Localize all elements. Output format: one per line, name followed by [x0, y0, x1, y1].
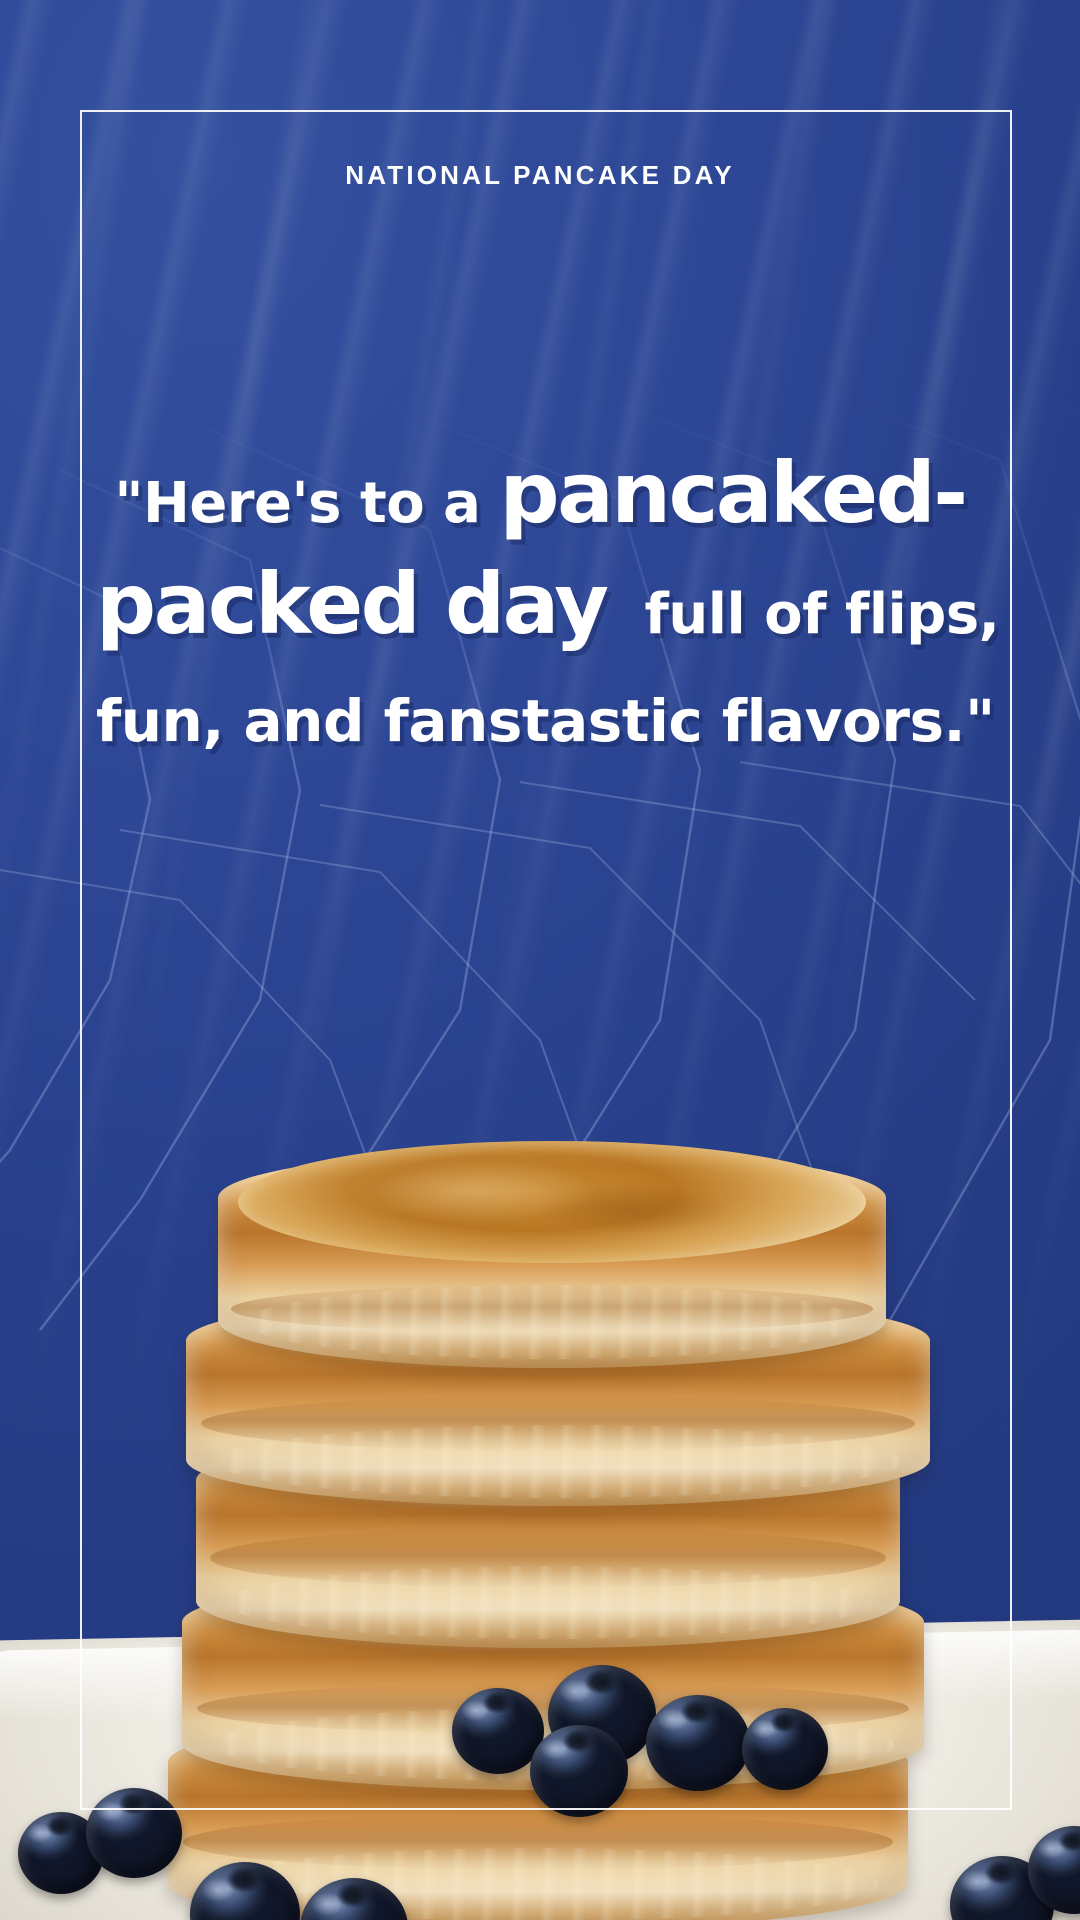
- quote-line-1: "Here's to a pancaked-: [96, 450, 984, 537]
- pancake-crumb-texture: [224, 1566, 872, 1639]
- blueberry-crown: [584, 1669, 621, 1695]
- poster-canvas: NATIONAL PANCAKE DAY "Here's to a pancak…: [0, 0, 1080, 1920]
- blueberry-top-3: [646, 1695, 750, 1791]
- quote-block: "Here's to a pancaked- packed day full o…: [96, 450, 984, 751]
- blueberry-crown: [118, 1792, 151, 1815]
- quote-line-3-part-1: fun, and fanstastic flavors.": [96, 687, 995, 755]
- blueberry-plate-2: [86, 1788, 182, 1878]
- blueberry-crown: [46, 1815, 75, 1836]
- blueberry-crown: [680, 1699, 715, 1724]
- pancake-crumb-texture: [216, 1425, 901, 1497]
- blueberry-top-5: [530, 1725, 628, 1817]
- blueberry-crown: [336, 1882, 373, 1908]
- pancake-crumb-texture: [245, 1285, 860, 1359]
- quote-line-1-part-1: "Here's to a: [114, 471, 499, 536]
- blueberry-crown: [1058, 1830, 1080, 1853]
- pancake-layer-1-top: [218, 1150, 886, 1368]
- quote-line-2-part-1: packed day: [96, 555, 607, 653]
- quote-line-1-part-2: pancaked-: [499, 444, 965, 542]
- blueberry-crown: [770, 1711, 799, 1732]
- blueberry-top-4: [742, 1708, 828, 1790]
- blueberry-crown: [482, 1691, 513, 1713]
- pancake-top-face: [238, 1141, 866, 1263]
- quote-line-3: fun, and fanstastic flavors.": [96, 691, 984, 751]
- quote-line-2-part-2: full of flips,: [607, 582, 1000, 647]
- eyebrow-title: NATIONAL PANCAKE DAY: [0, 160, 1080, 191]
- quote-line-2: packed day full of flips,: [96, 561, 984, 648]
- blueberry-crown: [226, 1866, 263, 1893]
- blueberry-crown: [562, 1729, 595, 1753]
- pancake-photo: [0, 810, 1080, 1920]
- blueberry-crown: [984, 1860, 1019, 1885]
